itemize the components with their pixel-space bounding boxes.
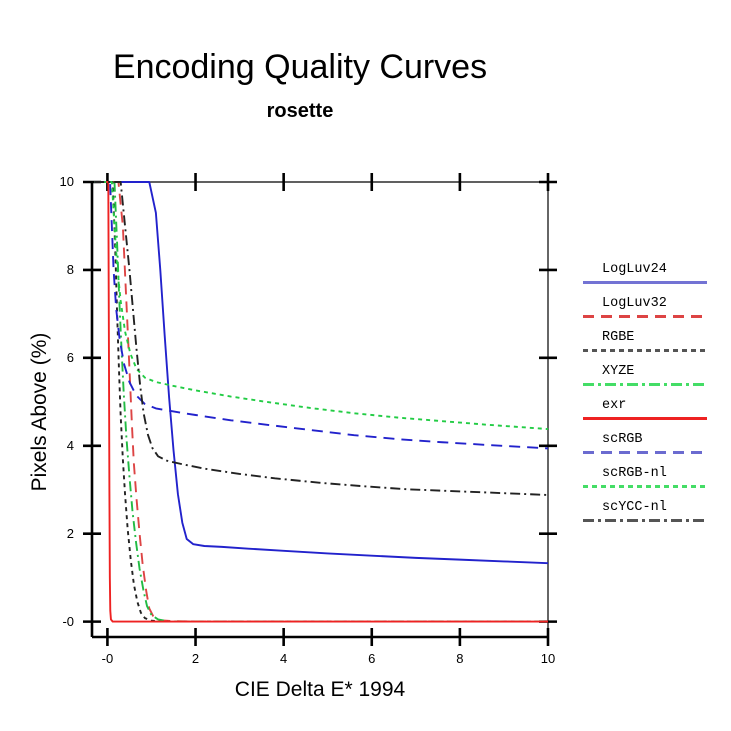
legend-item-scrgb[interactable]: scRGB xyxy=(578,432,728,466)
curve-logluv24 xyxy=(94,182,548,563)
legend-item-logluv24[interactable]: LogLuv24 xyxy=(578,262,728,296)
legend-line-swatch xyxy=(583,349,707,352)
legend-label: RGBE xyxy=(602,330,634,345)
legend-label: scRGB-nl xyxy=(602,466,667,481)
legend-line-swatch xyxy=(583,417,707,420)
legend-line-swatch xyxy=(583,485,707,488)
y-tick-label: 10 xyxy=(40,174,74,189)
x-tick-label: 6 xyxy=(352,651,392,666)
legend-line-swatch xyxy=(583,519,707,522)
curve-rgbe xyxy=(94,182,548,622)
y-tick-label: 8 xyxy=(40,262,74,277)
curve-xyze xyxy=(94,182,548,622)
legend-label: LogLuv32 xyxy=(602,296,667,311)
x-tick-label: 8 xyxy=(440,651,480,666)
legend-item-logluv32[interactable]: LogLuv32 xyxy=(578,296,728,330)
chart-page: Encoding Quality Curves rosette -0246810… xyxy=(0,0,731,731)
curve-scycc-nl xyxy=(94,182,548,495)
chart-legend: LogLuv24LogLuv32RGBEXYZEexrscRGBscRGB-nl… xyxy=(578,262,728,534)
curve-logluv32 xyxy=(94,182,548,622)
x-tick-label: 2 xyxy=(176,651,216,666)
legend-label: XYZE xyxy=(602,364,634,379)
legend-item-scrgb-nl[interactable]: scRGB-nl xyxy=(578,466,728,500)
legend-line-swatch xyxy=(583,281,707,284)
legend-item-xyze[interactable]: XYZE xyxy=(578,364,728,398)
legend-label: exr xyxy=(602,398,626,413)
data-curves xyxy=(94,182,548,622)
y-axis-label: Pixels Above (%) xyxy=(28,292,52,532)
legend-line-swatch xyxy=(583,383,707,386)
curve-exr xyxy=(94,182,548,622)
legend-line-swatch xyxy=(583,451,707,454)
axes xyxy=(83,173,557,646)
x-tick-label: 10 xyxy=(528,651,568,666)
curve-scrgb xyxy=(94,182,548,448)
legend-item-rgbe[interactable]: RGBE xyxy=(578,330,728,364)
legend-line-swatch xyxy=(583,315,707,318)
y-tick-label: -0 xyxy=(40,614,74,629)
x-tick-label: 4 xyxy=(264,651,304,666)
legend-label: LogLuv24 xyxy=(602,262,667,277)
legend-label: scYCC-nl xyxy=(602,500,667,515)
legend-item-scycc-nl[interactable]: scYCC-nl xyxy=(578,500,728,534)
legend-label: scRGB xyxy=(602,432,643,447)
x-tick-label: -0 xyxy=(87,651,127,666)
legend-item-exr[interactable]: exr xyxy=(578,398,728,432)
x-axis-label: CIE Delta E* 1994 xyxy=(92,678,548,702)
